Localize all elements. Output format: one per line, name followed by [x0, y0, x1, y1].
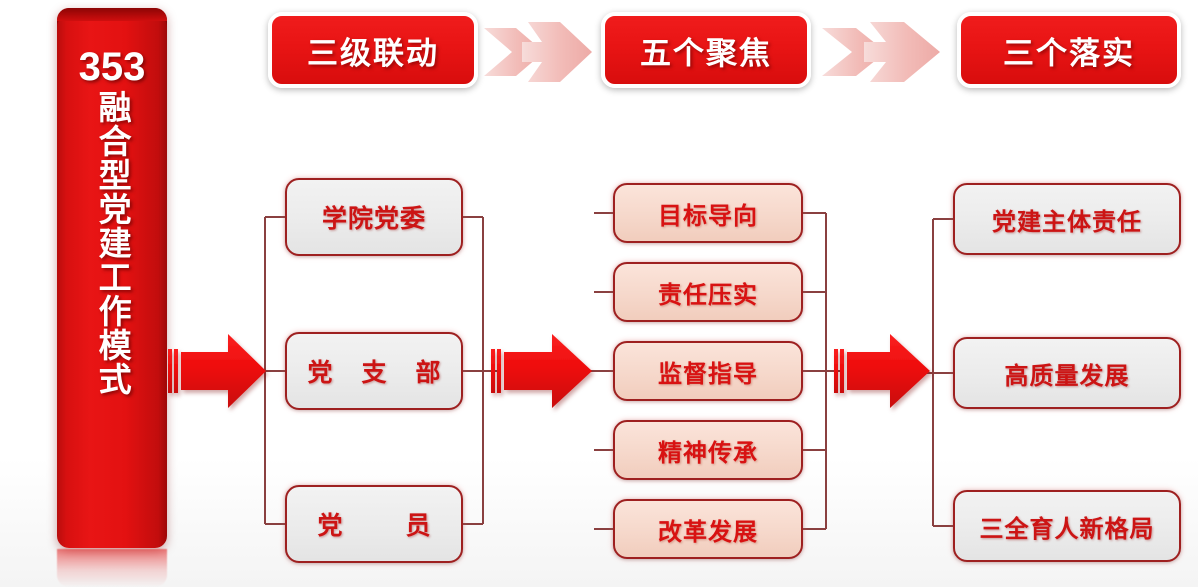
- col3-item-label: 高质量发展: [1005, 356, 1130, 391]
- col1-item-box[interactable]: 党 支 部: [285, 332, 463, 410]
- bracket-col3-left: [916, 219, 953, 526]
- header-pill-label: 三级联动: [307, 28, 439, 73]
- header-pill-label: 五个聚焦: [640, 28, 772, 73]
- header-pill-five-focuses[interactable]: 五个聚焦: [601, 12, 811, 88]
- red-arrow-col1-to-col2-icon: [491, 334, 592, 408]
- col1-item-label: 学院党委: [322, 199, 426, 235]
- col1-item-label: 党 员: [290, 506, 459, 542]
- col2-item-label: 监督指导: [658, 354, 758, 389]
- col2-item-label: 目标导向: [658, 196, 758, 231]
- col3-item-box[interactable]: 党建主体责任: [953, 183, 1181, 255]
- col2-item-label: 责任压实: [658, 275, 758, 310]
- red-arrow-col2-to-col3-icon: [834, 334, 930, 408]
- col2-item-box[interactable]: 责任压实: [613, 262, 803, 322]
- bracket-col1-left: [238, 217, 285, 524]
- col2-item-box[interactable]: 监督指导: [613, 341, 803, 401]
- col1-item-box[interactable]: 党 员: [285, 485, 463, 563]
- bracket-col2-right: [803, 213, 843, 529]
- red-arrow-pillar-to-col1-icon: [168, 334, 266, 408]
- pale-chevron-arrow-2-icon: [818, 14, 954, 90]
- col2-item-label: 精神传承: [658, 433, 758, 468]
- col1-item-label: 党 支 部: [297, 353, 452, 389]
- col1-item-box[interactable]: 学院党委: [285, 178, 463, 256]
- col3-item-box[interactable]: 三全育人新格局: [953, 490, 1181, 562]
- header-pill-three-implementations[interactable]: 三个落实: [957, 12, 1181, 88]
- bracket-col2-left: [576, 213, 613, 529]
- diagram-canvas: 353 融合型党建工作模式 三级联动 五个聚焦 三个落实: [0, 0, 1198, 587]
- col2-item-box[interactable]: 目标导向: [613, 183, 803, 243]
- col3-item-label: 三全育人新格局: [980, 509, 1155, 544]
- pillar-text-group: 353 融合型党建工作模式: [57, 8, 167, 548]
- col3-item-label: 党建主体责任: [992, 202, 1142, 237]
- header-pill-label: 三个落实: [1003, 28, 1135, 73]
- pale-chevron-arrow-1-icon: [482, 14, 602, 90]
- col2-item-label: 改革发展: [658, 512, 758, 547]
- col3-item-box[interactable]: 高质量发展: [953, 337, 1181, 409]
- col2-item-box[interactable]: 精神传承: [613, 420, 803, 480]
- pillar-title: 融合型党建工作模式: [92, 90, 132, 510]
- header-pill-three-level-linkage[interactable]: 三级联动: [268, 12, 478, 88]
- bracket-col1-right: [463, 217, 500, 524]
- col2-item-box[interactable]: 改革发展: [613, 499, 803, 559]
- pillar-number: 353: [79, 46, 146, 88]
- pillar-reflection: [57, 549, 167, 587]
